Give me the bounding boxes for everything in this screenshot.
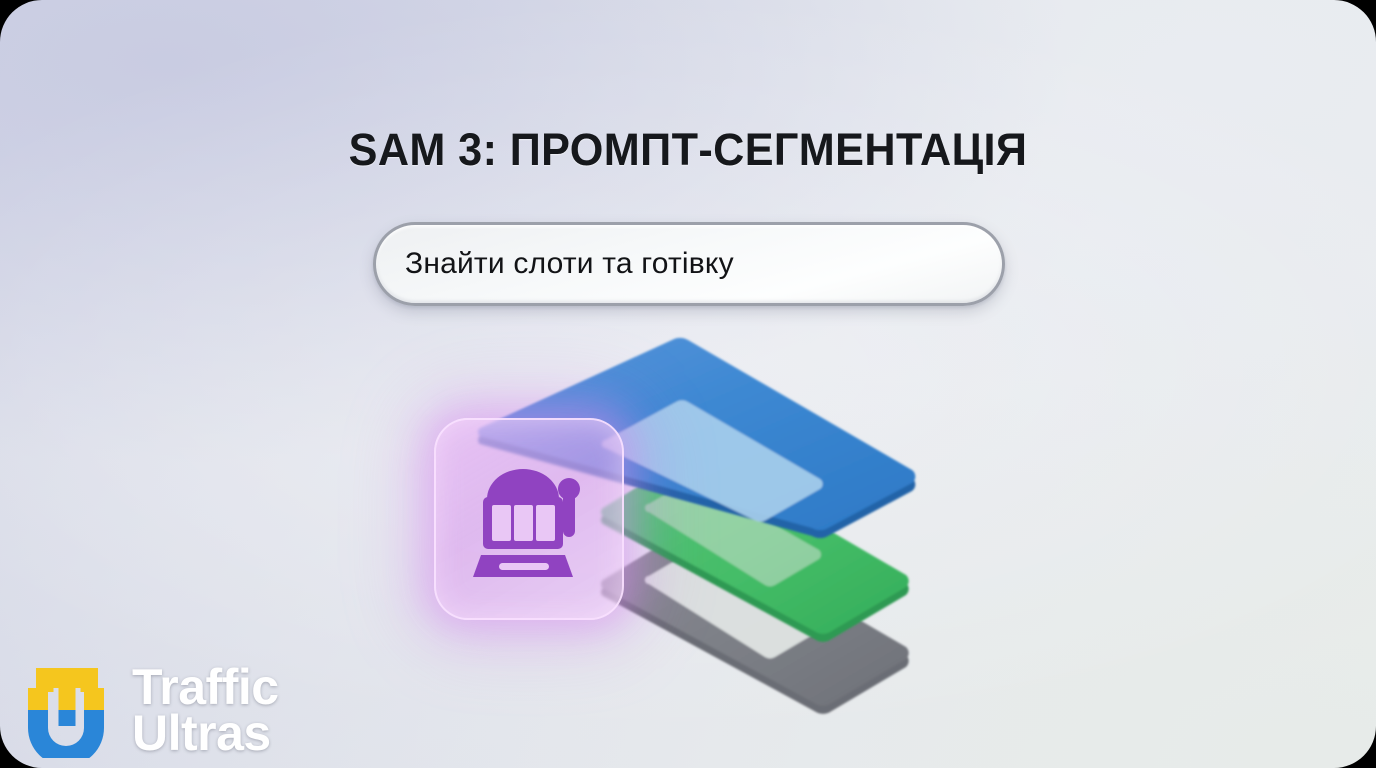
prompt-input-value: Знайти слоти та готівку	[376, 247, 734, 281]
brand-logo: Traffic Ultras	[14, 662, 279, 758]
brand-line-1: Traffic	[132, 664, 279, 710]
slot-machine-icon	[471, 459, 587, 579]
page-title: SAM 3: ПРОМПТ-СЕГМЕНТАЦІЯ	[28, 124, 1349, 176]
slide-canvas: SAM 3: ПРОМПТ-СЕГМЕНТАЦІЯ Знайти слоти т…	[0, 0, 1376, 768]
brand-text: Traffic Ultras	[132, 664, 279, 756]
prompt-input[interactable]: Знайти слоти та готівку	[373, 222, 1005, 306]
prompt-field-wrapper[interactable]: Знайти слоти та готівку	[373, 222, 1005, 306]
slot-machine-card[interactable]	[434, 418, 624, 620]
tu-monogram-icon	[14, 662, 118, 758]
brand-line-2: Ultras	[132, 710, 279, 756]
